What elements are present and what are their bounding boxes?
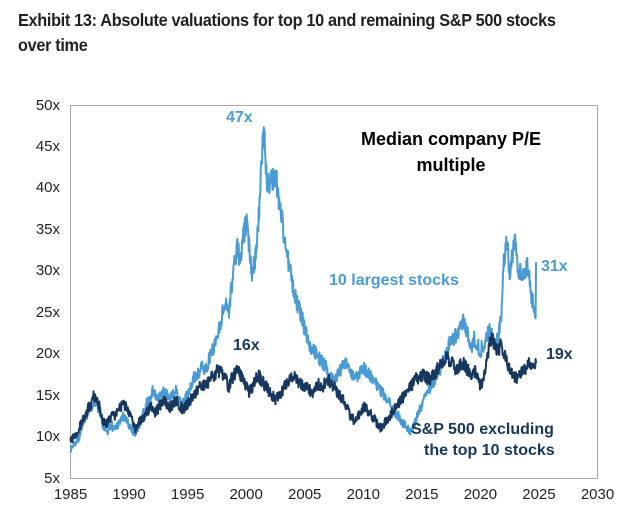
x-tick-label: 1990 [102,486,156,503]
x-tick-label: 2030 [571,486,625,503]
annotation-end-top10: 31x [541,257,568,277]
y-tick-label: 25x [14,304,60,321]
annotation-end-ex-top10: 19x [546,345,573,365]
y-tick-label: 30x [14,262,60,279]
x-tick-label: 2010 [336,486,390,503]
x-tick-label: 2015 [395,486,449,503]
annotation-peak-top10: 47x [226,108,253,128]
chart-exhibit: Exhibit 13: Absolute valuations for top … [0,0,640,530]
x-tick-label: 1985 [44,486,98,503]
x-tick-label: 2005 [278,486,332,503]
y-tick-label: 35x [14,221,60,238]
annotation-peak-ex-top10: 16x [233,336,260,356]
y-tick-label: 40x [14,179,60,196]
y-tick-label: 15x [14,387,60,404]
y-tick-label: 10x [14,428,60,445]
x-tick-label: 2025 [512,486,566,503]
y-tick-label: 45x [14,138,60,155]
y-tick-label: 5x [14,470,60,487]
series-label-ex-top10-line1: S&P 500 excluding [411,420,554,440]
subtitle-line-2: multiple [348,152,554,178]
series-label-top10: 10 largest stocks [329,271,459,291]
series-label-ex-top10-line2: the top 10 stocks [424,441,555,461]
subtitle-line-1: Median company P/E [348,126,554,152]
x-tick-label: 2000 [219,486,273,503]
y-tick-label: 20x [14,345,60,362]
x-tick-label: 1995 [161,486,215,503]
x-tick-label: 2020 [453,486,507,503]
y-tick-label: 50x [14,97,60,114]
